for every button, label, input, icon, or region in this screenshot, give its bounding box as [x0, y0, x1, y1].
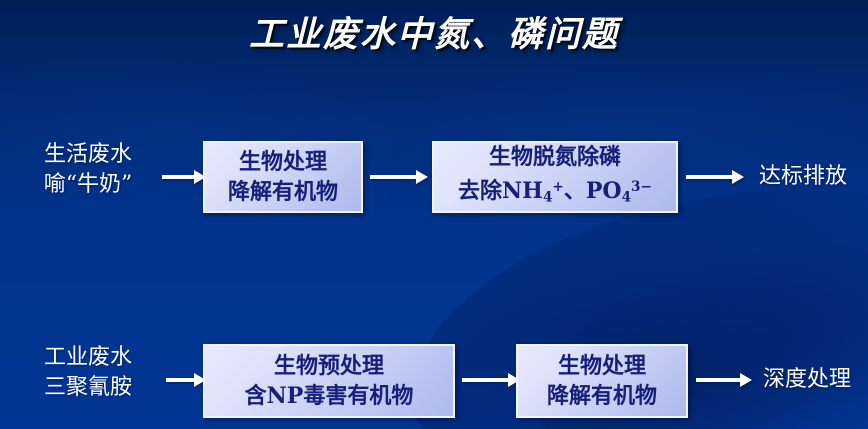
- flow-1-result-label: 深度处理: [748, 365, 866, 395]
- arrow-shaft: [162, 175, 196, 179]
- flow-0-step-2-line-1: 生物脱氮除磷: [489, 142, 621, 172]
- slide-canvas: 工业废水中氮、磷问题 生活废水 喻“牛奶” 生物处理 降解有机物 生物脱氮除磷 …: [0, 0, 868, 429]
- arrow-shaft: [686, 175, 734, 179]
- flow-1-source-line-2: 三聚氰胺: [8, 373, 168, 403]
- flow-0-source-label: 生活废水 喻“牛奶”: [8, 140, 168, 200]
- flow-0-step-2-formula-mid: 、PO: [564, 178, 622, 204]
- flow-0-step-2-nh4-sub: 4: [543, 189, 552, 205]
- flow-0-source-line-2: 喻“牛奶”: [8, 170, 168, 200]
- flow-0-step-1-line-2: 降解有机物: [228, 177, 338, 207]
- flow-0-step-1-box[interactable]: 生物处理 降解有机物: [203, 141, 363, 213]
- flow-0-step-2-po4-charge: 3−: [631, 179, 652, 195]
- flow-0-step-2-po4-sub: 4: [622, 189, 631, 205]
- flow-1-step-1-line-1: 生物预处理: [274, 351, 384, 381]
- flow-1-source-label: 工业废水 三聚氰胺: [8, 343, 168, 403]
- arrow-shaft: [696, 378, 742, 382]
- flow-1-step-1-box[interactable]: 生物预处理 含NP毒害有机物: [203, 344, 455, 418]
- arrow-shaft: [462, 378, 510, 382]
- flow-1-step-2-line-1: 生物处理: [558, 351, 646, 381]
- flow-0-source-line-1: 生活废水: [8, 140, 168, 170]
- flow-1-source-line-1: 工业废水: [8, 343, 168, 373]
- flow-0-step-2-box[interactable]: 生物脱氮除磷 去除NH4+、PO43−: [432, 141, 678, 213]
- flow-0-result-label: 达标排放: [744, 162, 862, 192]
- flow-0-step-1-line-1: 生物处理: [239, 147, 327, 177]
- flow-0-step-2-formula-prefix: 去除NH: [458, 178, 543, 204]
- slide-title: 工业废水中氮、磷问题: [0, 6, 868, 57]
- arrow-shaft: [370, 175, 418, 179]
- flow-1-step-1-line-2: 含NP毒害有机物: [245, 381, 414, 411]
- flow-0-step-2-line-2: 去除NH4+、PO43−: [458, 172, 652, 213]
- arrow-shaft: [166, 378, 196, 382]
- flow-1-step-2-box[interactable]: 生物处理 降解有机物: [516, 344, 688, 418]
- arrow-head: [416, 170, 428, 184]
- flow-1-step-2-line-2: 降解有机物: [547, 381, 657, 411]
- arrow-head: [732, 170, 744, 184]
- flow-0-step-2-nh4-charge: +: [552, 179, 563, 195]
